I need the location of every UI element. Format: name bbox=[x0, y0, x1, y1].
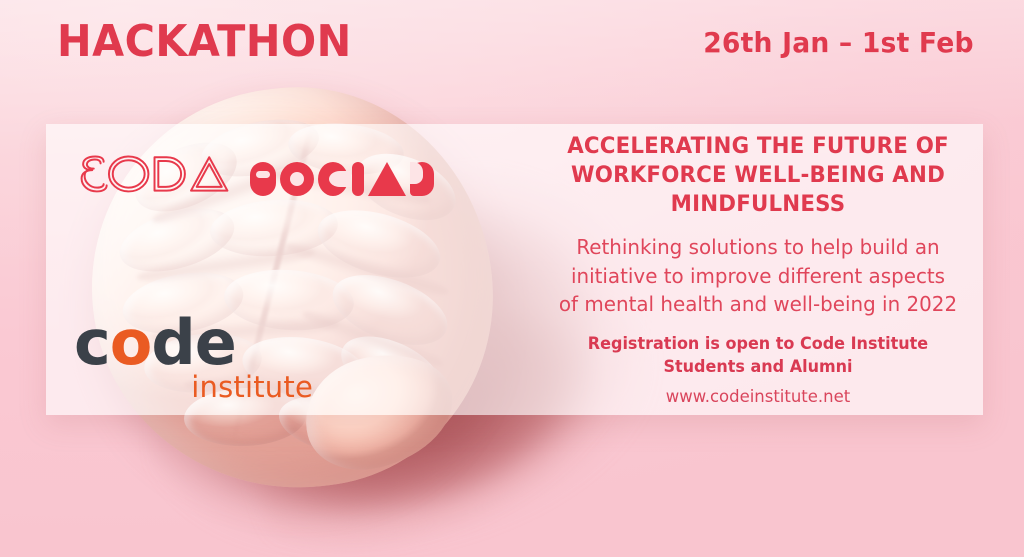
headline-line-1: ACCELERATING THE FUTURE OF bbox=[552, 132, 963, 161]
code-letter-c: c bbox=[74, 306, 110, 379]
code-wordmark: code bbox=[74, 314, 314, 371]
social-letter-c bbox=[318, 162, 348, 196]
soda-social-logo bbox=[74, 146, 434, 208]
page-title: HACKATHON bbox=[57, 20, 352, 64]
social-letter-a bbox=[368, 162, 406, 196]
social-letter-s bbox=[250, 162, 276, 196]
code-letters-de: de bbox=[151, 306, 235, 379]
description-line-3: of mental health and well-being in 2022 bbox=[552, 290, 963, 319]
registration-note: Registration is open to Code Institute S… bbox=[552, 333, 963, 379]
description-line-1: Rethinking solutions to help build an bbox=[552, 233, 963, 262]
copy-column: ACCELERATING THE FUTURE OF WORKFORCE WEL… bbox=[546, 132, 970, 407]
headline-line-2: WORKFORCE WELL-BEING AND bbox=[552, 161, 963, 190]
social-letter-l bbox=[410, 162, 434, 196]
registration-line-2: Students and Alumni bbox=[552, 356, 963, 379]
social-wordmark bbox=[250, 158, 434, 196]
social-letter-o bbox=[280, 162, 314, 196]
description-line-2: initiative to improve different aspects bbox=[552, 262, 963, 291]
website-url[interactable]: www.codeinstitute.net bbox=[552, 387, 963, 407]
soda-wordmark-icon bbox=[74, 148, 232, 206]
registration-line-1: Registration is open to Code Institute bbox=[552, 333, 963, 356]
headline: ACCELERATING THE FUTURE OF WORKFORCE WEL… bbox=[552, 132, 963, 219]
headline-line-3: MINDFULNESS bbox=[552, 190, 963, 219]
description: Rethinking solutions to help build an in… bbox=[552, 233, 963, 319]
code-letter-o: o bbox=[110, 306, 152, 379]
code-institute-logo: code institute bbox=[74, 314, 314, 402]
hackathon-poster: HACKATHON 26th Jan – 1st Feb bbox=[0, 0, 1024, 557]
social-letter-i bbox=[352, 162, 364, 196]
event-dates: 26th Jan – 1st Feb bbox=[704, 29, 974, 57]
